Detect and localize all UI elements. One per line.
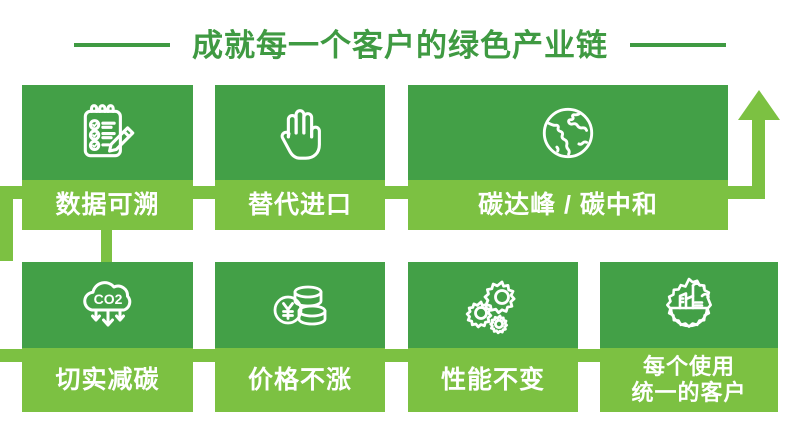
- card-label: 价格不涨: [215, 348, 385, 412]
- card-icon-area: [215, 85, 385, 180]
- horizontal-connector-stub: [385, 349, 409, 362]
- horizontal-connector-stub: [193, 186, 216, 199]
- card-label-line: 替代进口: [248, 191, 352, 219]
- card-carbon-reduction[interactable]: CO2 切实减碳: [22, 262, 193, 412]
- horizontal-connector-stub: [385, 186, 409, 199]
- hand-icon: [269, 102, 331, 164]
- card-label-line: 每个使用: [631, 354, 746, 380]
- factory-gear-icon: [657, 274, 721, 336]
- card-performance-stable[interactable]: 性能不变: [408, 262, 578, 412]
- card-label: 数据可溯: [22, 180, 193, 230]
- card-label: 每个使用 统一的客户: [600, 348, 778, 412]
- card-price-stable[interactable]: 价格不涨: [215, 262, 385, 412]
- card-icon-area: [408, 262, 578, 348]
- card-label-line: 切实减碳: [55, 366, 159, 394]
- card-label: 碳达峰 / 碳中和: [408, 180, 728, 230]
- title-text: 成就每一个客户的绿色产业链: [192, 30, 608, 61]
- card-unified-customers[interactable]: 每个使用 统一的客户: [600, 262, 778, 412]
- card-icon-area: [22, 85, 193, 180]
- svg-text:CO2: CO2: [93, 291, 122, 307]
- card-data-traceable[interactable]: 数据可溯: [22, 85, 193, 230]
- card-label-line: 数据可溯: [55, 191, 159, 219]
- vertical-connector-left-leg: [0, 186, 13, 261]
- horizontal-connector-stub: [193, 349, 216, 362]
- page-title: 成就每一个客户的绿色产业链: [0, 20, 800, 70]
- gears-icon: [461, 274, 525, 336]
- title-rule-left: [74, 43, 170, 47]
- card-icon-area: [600, 262, 778, 348]
- co2-cloud-icon: CO2: [76, 274, 140, 336]
- horizontal-connector-stub: [0, 349, 23, 362]
- flow-arrow-up-icon: [738, 90, 780, 120]
- card-import-substitution[interactable]: 替代进口: [215, 85, 385, 230]
- title-rule-right: [630, 43, 726, 47]
- globe-icon: [535, 100, 601, 166]
- card-carbon-peak-neutrality[interactable]: 碳达峰 / 碳中和: [408, 85, 728, 230]
- card-label: 性能不变: [408, 348, 578, 412]
- horizontal-connector-stub: [578, 349, 601, 362]
- card-label-line: 碳达峰 / 碳中和: [478, 191, 658, 219]
- card-label: 切实减碳: [22, 348, 193, 412]
- card-label: 替代进口: [215, 180, 385, 230]
- card-label-line: 价格不涨: [248, 366, 352, 394]
- card-label-line: 性能不变: [441, 366, 545, 394]
- card-icon-area: [408, 85, 728, 180]
- card-icon-area: CO2: [22, 262, 193, 348]
- vertical-connector-arrow-stem: [752, 118, 765, 199]
- card-icon-area: [215, 262, 385, 348]
- vertical-connector-card1: [101, 225, 112, 267]
- coins-yen-icon: [268, 275, 332, 335]
- clipboard-checklist-icon: [75, 100, 141, 166]
- card-label-line: 统一的客户: [631, 380, 746, 406]
- infographic-root: 成就每一个客户的绿色产业链 数据可溯: [0, 0, 800, 441]
